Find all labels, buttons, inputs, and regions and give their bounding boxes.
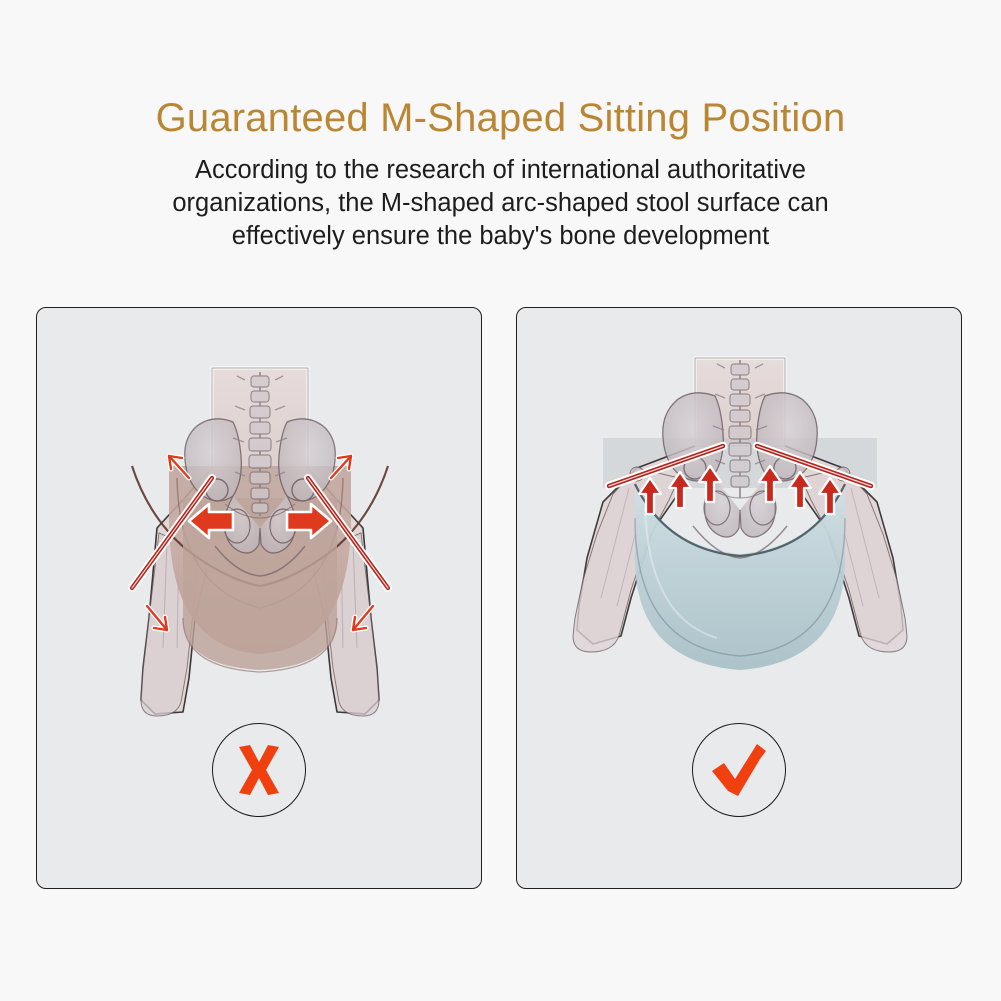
panel-correct-position xyxy=(516,307,962,889)
subtitle-line-2: organizations, the M-shaped arc-shaped s… xyxy=(121,187,881,220)
infographic-page: Guaranteed M-Shaped Sitting Position Acc… xyxy=(0,0,1001,1001)
figure-incorrect xyxy=(37,318,482,738)
check-mark-icon xyxy=(708,739,770,801)
panel-incorrect-position xyxy=(36,307,482,889)
comparison-panels xyxy=(0,307,1001,892)
header: Guaranteed M-Shaped Sitting Position Acc… xyxy=(0,0,1001,253)
subtitle-line-1: According to the research of internation… xyxy=(121,154,881,187)
page-subtitle: According to the research of internation… xyxy=(121,154,881,253)
cross-mark-icon xyxy=(230,741,288,799)
page-title: Guaranteed M-Shaped Sitting Position xyxy=(0,96,1001,140)
figure-correct xyxy=(517,318,962,738)
verdict-badge-incorrect xyxy=(212,723,306,817)
subtitle-line-3: effectively ensure the baby's bone devel… xyxy=(121,220,881,253)
verdict-badge-correct xyxy=(692,723,786,817)
